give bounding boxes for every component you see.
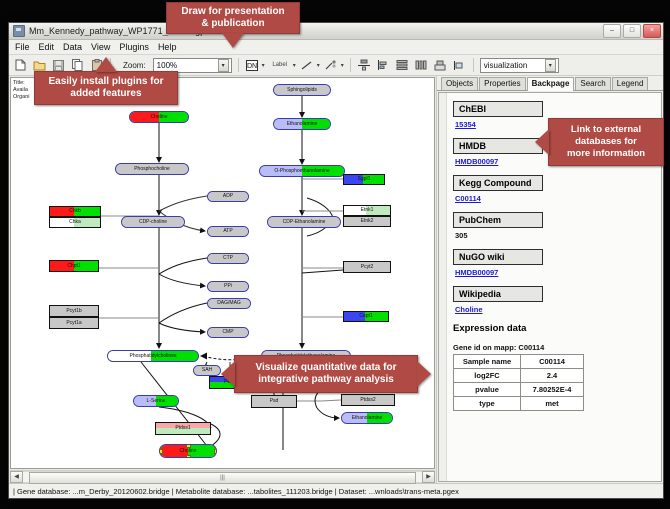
gene-id-line: Gene id on mapp: C00114: [453, 343, 655, 352]
selection-handle[interactable]: [186, 455, 191, 458]
db-header-wikipedia: Wikipedia: [453, 286, 543, 302]
label-tool-text: Label: [272, 62, 287, 68]
node-label: Sgpl1: [358, 177, 371, 182]
gene-node-etnk2[interactable]: Etnk2: [343, 216, 391, 227]
selection-handle[interactable]: [159, 444, 163, 448]
menu-help[interactable]: Help: [158, 42, 177, 52]
chevron-down-icon[interactable]: ▾: [218, 59, 229, 72]
node-label: Chpt1: [67, 264, 80, 269]
node-label: Ethanolamine: [287, 122, 318, 127]
db-header-hmdb: HMDB: [453, 138, 543, 154]
tab-legend[interactable]: Legend: [612, 77, 649, 90]
interaction-dropdown-icon[interactable]: ▾: [341, 62, 344, 69]
tab-backpage[interactable]: Backpage: [527, 77, 575, 91]
canvas-area: Title: Availa Organi: [9, 76, 437, 483]
expression-row: log2FC2.4: [454, 369, 584, 383]
expression-value: met: [521, 397, 584, 411]
gene-node-pcyt1b[interactable]: Pcyt1b: [49, 305, 99, 317]
node-label: CMP: [222, 330, 233, 335]
selection-handle[interactable]: [159, 449, 163, 454]
interaction-tool-icon[interactable]: [324, 58, 339, 73]
metabolite-node-pcholines[interactable]: Phosphatidylcholines: [107, 350, 199, 362]
expression-row: typemet: [454, 397, 584, 411]
group-icon[interactable]: [433, 58, 448, 73]
node-label: Psd: [270, 399, 279, 404]
expression-value: 2.4: [521, 369, 584, 383]
expression-value: 7.80252E-4: [521, 383, 584, 397]
gene-node-psd[interactable]: Psd: [251, 395, 297, 408]
label-dropdown-icon[interactable]: ▾: [293, 62, 296, 69]
metabolite-node-cmp[interactable]: CMP: [207, 327, 249, 338]
node-label: Phosphatidylcholines: [130, 354, 177, 359]
scroll-left-icon[interactable]: ◀: [10, 471, 23, 483]
expression-key: pvalue: [454, 383, 521, 397]
metabolite-node-ctp[interactable]: CTP: [207, 253, 249, 264]
tab-properties[interactable]: Properties: [479, 77, 525, 90]
node-label: Sphingolipids: [287, 88, 317, 93]
gene-node-cept1[interactable]: Cept1: [343, 311, 389, 322]
callout-visualize: Visualize quantitative data for integrat…: [234, 355, 418, 393]
expression-key: log2FC: [454, 369, 521, 383]
expression-value: C00114: [521, 355, 584, 369]
node-label: DAG/MAG: [217, 301, 241, 306]
canvas-horizontal-scrollbar[interactable]: ◀ ||| ▶: [10, 470, 435, 482]
node-label: Choline: [151, 115, 168, 120]
metabolite-node-ethanolamine1[interactable]: Ethanolamine: [273, 118, 331, 130]
metabolite-node-phosphocholine[interactable]: Phosphocholine: [115, 163, 189, 175]
datanode-tool-icon[interactable]: DN: [245, 58, 260, 73]
node-label: CDP-Ethanolamine: [283, 220, 326, 225]
menu-file[interactable]: File: [15, 42, 30, 52]
db-header-pubchem: PubChem: [453, 212, 543, 228]
metabolite-node-o_phosphoetha[interactable]: O-Phosphoethanolamine: [259, 165, 345, 177]
gene-node-ptdss1[interactable]: Ptdss1: [155, 422, 211, 435]
metabolite-node-cdp_choline[interactable]: CDP-choline: [121, 216, 185, 228]
metabolite-node-ppi[interactable]: PPi: [207, 281, 249, 292]
callout-text: Visualize quantitative data for integrat…: [256, 362, 397, 387]
metabolite-node-cdp_etha[interactable]: CDP-Ethanolamine: [267, 216, 341, 228]
chevron-down-icon-2[interactable]: ▾: [545, 59, 556, 72]
backpage-gutter: [439, 93, 447, 481]
menubar: File Edit Data View Plugins Help: [9, 40, 663, 55]
db-value-pubchem: 305: [455, 231, 655, 240]
svg-text:DN: DN: [247, 63, 257, 70]
close-button[interactable]: ×: [643, 24, 661, 38]
line-dropdown-icon[interactable]: ▾: [317, 62, 320, 69]
metabolite-node-ethanolamine2[interactable]: Ethanolamine: [341, 412, 393, 424]
node-label: Pcyt2: [361, 265, 374, 270]
callout-arrow-up: [95, 57, 117, 72]
gene-node-chka[interactable]: Chka: [49, 217, 101, 228]
db-header-kegg-compound: Kegg Compound: [453, 175, 543, 191]
minimize-button[interactable]: –: [603, 24, 621, 38]
node-label: Phosphocholine: [134, 167, 170, 172]
node-label: PPi: [224, 284, 232, 289]
db-link-wikipedia[interactable]: Choline: [455, 305, 655, 314]
node-label: Ethanolamine: [352, 416, 383, 421]
node-label: O-Phosphoethanolamine: [274, 169, 329, 174]
scroll-thumb[interactable]: |||: [29, 472, 416, 484]
distribute-icon[interactable]: [414, 58, 429, 73]
side-panel-tabs: ObjectsPropertiesBackpageSearchLegend: [437, 76, 663, 91]
callout-links: Link to external databases for more info…: [548, 118, 664, 166]
metabolite-node-sah[interactable]: SAH: [193, 365, 221, 376]
menu-plugins[interactable]: Plugins: [119, 42, 149, 52]
callout-arrow-left: [535, 129, 549, 155]
toolbar-separator-2: [238, 58, 239, 72]
window-controls[interactable]: – □ ×: [603, 24, 661, 38]
pathway-canvas[interactable]: Title: Availa Organi: [10, 77, 435, 469]
menu-data[interactable]: Data: [63, 42, 82, 52]
metabolite-node-lserine1[interactable]: L-Serine: [133, 395, 179, 407]
metabolite-node-atp[interactable]: ATP: [207, 226, 249, 237]
metabolite-node-choline_sel[interactable]: Choline: [159, 444, 217, 458]
toolbar-separator-3: [350, 58, 351, 72]
maximize-button[interactable]: □: [623, 24, 641, 38]
metabolite-node-sphingolipids[interactable]: Sphingolipids: [273, 84, 331, 96]
pathway-edges: [11, 78, 434, 468]
align-center-icon[interactable]: [357, 58, 372, 73]
toolbar-separator-4: [473, 58, 474, 72]
stack-icon[interactable]: [395, 58, 410, 73]
node-label: Etnk2: [361, 219, 374, 224]
node-label: Chka: [69, 220, 81, 225]
db-link-kegg-compound[interactable]: C00114: [455, 194, 655, 203]
gene-node-sgpl1[interactable]: Sgpl1: [343, 174, 385, 185]
visualization-combo[interactable]: visualization ▾: [480, 58, 559, 73]
metabolite-node-dagmag[interactable]: DAG/MAG: [207, 298, 251, 309]
zoom-label: Zoom:: [123, 61, 146, 70]
node-label: Cept1: [359, 314, 372, 319]
db-header-chebi: ChEBI: [453, 101, 543, 117]
gene-node-chpt1[interactable]: Chpt1: [49, 260, 99, 272]
callout-text: Link to external databases for more info…: [567, 124, 645, 160]
gene-node-pcyt2[interactable]: Pcyt2: [343, 261, 391, 273]
gene-node-ptdss2[interactable]: Ptdss2: [341, 394, 395, 406]
expression-row: Sample nameC00114: [454, 355, 584, 369]
visualization-value: visualization: [484, 61, 528, 70]
scroll-right-icon[interactable]: ▶: [422, 471, 435, 483]
node-label: Pcyt1b: [66, 309, 81, 314]
screenshot-root: Mm_Kennedy_pathway_WP1771_45176.gpml – □…: [0, 0, 670, 509]
callout-arrow-down: [222, 33, 244, 48]
expression-data-table: Sample nameC00114log2FC2.4pvalue7.80252E…: [453, 354, 584, 411]
scroll-track[interactable]: |||: [23, 471, 422, 483]
callout-arrow-left: [221, 361, 235, 387]
expression-key: type: [454, 397, 521, 411]
node-label: Etnk1: [361, 208, 374, 213]
statusbar: | Gene database: ...m_Derby_20120602.bri…: [9, 483, 663, 498]
callout-plugins: Easily install plugins for added feature…: [34, 71, 178, 105]
callout-text: Draw for presentation & publication: [181, 6, 284, 31]
db-header-nugo-wiki: NuGO wiki: [453, 249, 543, 265]
node-label: L-Serine: [147, 399, 166, 404]
node-label: CTP: [223, 256, 233, 261]
node-label: Ptdss1: [175, 426, 190, 431]
gene-node-chkb[interactable]: Chkb: [49, 206, 101, 217]
statusbar-text: | Gene database: ...m_Derby_20120602.bri…: [13, 487, 459, 496]
selection-handle[interactable]: [214, 449, 217, 454]
gene-node-pcyt1a[interactable]: Pcyt1a: [49, 317, 99, 329]
zoom-value: 100%: [157, 61, 177, 70]
window-titlebar: Mm_Kennedy_pathway_WP1771_45176.gpml – □…: [9, 23, 663, 40]
gene-node-etnk1[interactable]: Etnk1: [343, 205, 391, 216]
node-label: ADP: [223, 194, 233, 199]
expression-data-title: Expression data: [453, 323, 655, 334]
metabolite-node-choline_top[interactable]: Choline: [129, 111, 189, 123]
node-label: ATP: [223, 229, 232, 234]
expression-row: pvalue7.80252E-4: [454, 383, 584, 397]
tab-objects[interactable]: Objects: [441, 77, 478, 90]
node-label: Chkb: [69, 209, 81, 214]
node-label: Pcyt1a: [66, 321, 81, 326]
node-label: Choline: [180, 449, 197, 454]
align-left-icon[interactable]: [376, 58, 391, 73]
selection-handle[interactable]: [186, 444, 191, 448]
node-label: SAH: [202, 368, 212, 373]
datanode-dropdown-icon[interactable]: ▾: [262, 62, 265, 69]
new-file-icon[interactable]: [13, 58, 28, 73]
node-label: Ptdss2: [360, 398, 375, 403]
node-label: CDP-choline: [139, 220, 167, 225]
callout-text: Easily install plugins for added feature…: [48, 76, 163, 101]
order-icon[interactable]: [452, 58, 467, 73]
menu-view[interactable]: View: [91, 42, 110, 52]
db-link-nugo-wiki[interactable]: HMDB00097: [455, 268, 655, 277]
app-icon: [13, 25, 25, 37]
menu-edit[interactable]: Edit: [39, 42, 55, 52]
callout-draw: Draw for presentation & publication: [166, 2, 300, 34]
metabolite-node-adp[interactable]: ADP: [207, 191, 249, 202]
line-tool-icon[interactable]: [300, 58, 315, 73]
tab-search[interactable]: Search: [575, 77, 610, 90]
callout-arrow-right: [417, 361, 431, 387]
label-tool-icon[interactable]: Label: [269, 58, 291, 73]
expression-key: Sample name: [454, 355, 521, 369]
